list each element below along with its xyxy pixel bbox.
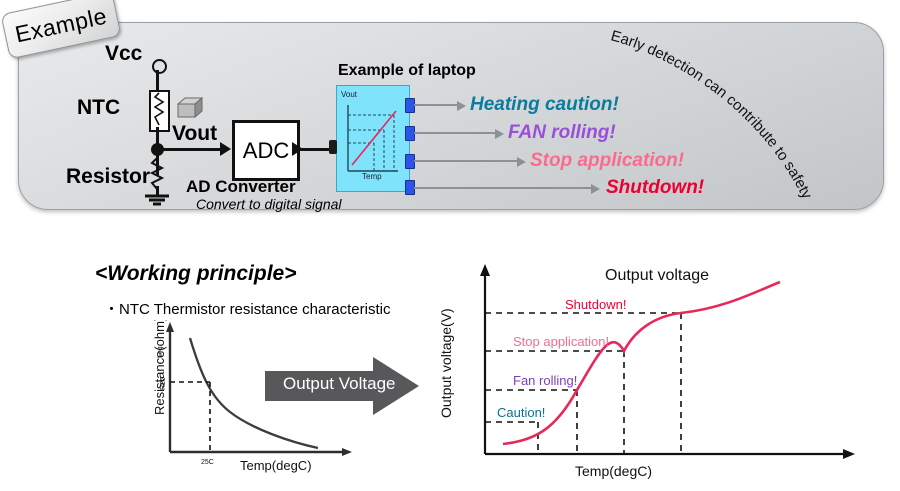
adc-block: ADC xyxy=(232,120,300,181)
callout-label-1: Heating caution! xyxy=(470,94,619,116)
vout-arrow-head-icon xyxy=(220,142,231,156)
threshold-label-fan-rolling: Fan rolling! xyxy=(513,373,577,388)
ground-symbol-icon xyxy=(143,194,171,213)
vcc-label: Vcc xyxy=(105,42,142,66)
threshold-label-caution: Caution! xyxy=(497,405,545,420)
working-principle-bullet: ・NTC Thermistor resistance characteristi… xyxy=(104,298,390,319)
ntc-label: NTC xyxy=(77,96,120,120)
ad-converter-label: AD Converter xyxy=(186,177,296,197)
callout-arrow-head-2-icon xyxy=(495,129,504,139)
out-chart-ylabel: Output voltage(V) xyxy=(438,308,454,418)
arc-note: Early detection can contribute to safety xyxy=(600,28,880,208)
res-chart-ylabel: Resistance(ohm) xyxy=(152,320,167,415)
callout-arrow-3 xyxy=(414,160,518,162)
callout-arrow-4 xyxy=(414,187,592,189)
mini-output-voltage-chart xyxy=(344,103,400,179)
vcc-terminal-icon xyxy=(152,59,167,74)
wire-vcc-to-ntc xyxy=(156,70,159,92)
transition-arrow-label: Output Voltage xyxy=(283,374,395,394)
res-chart-marker-xlabel: 25C xyxy=(201,459,214,466)
thermistor-part-cube-icon xyxy=(177,96,203,125)
callout-arrow-head-4-icon xyxy=(591,184,600,194)
vout-label: Vout xyxy=(172,122,217,146)
ntc-thermistor-symbol xyxy=(149,90,170,132)
res-chart-marker-ylabel: R25 xyxy=(160,377,167,390)
threshold-label-shutdown: Shutdown! xyxy=(565,297,626,312)
mini-chart-ylabel: Vout xyxy=(341,90,357,99)
callout-arrow-head-3-icon xyxy=(517,157,526,167)
out-chart-title: Output voltage xyxy=(605,267,709,284)
wire-vout-to-adc xyxy=(160,148,224,151)
out-chart-xlabel: Temp(degC) xyxy=(575,463,652,479)
ad-converter-sublabel: Convert to digital signal xyxy=(196,196,342,212)
callout-arrow-head-1-icon xyxy=(457,101,466,111)
output-voltage-chart: Output voltage Shutdown! Stop applicatio… xyxy=(425,258,885,488)
res-chart-xlabel: Temp(degC) xyxy=(240,458,312,473)
working-principle-title: <Working principle> xyxy=(95,262,297,286)
callout-arrow-2 xyxy=(414,132,496,134)
callout-arrow-1 xyxy=(414,104,458,106)
adc-input-arrow-head-icon xyxy=(292,142,303,156)
laptop-input-connector-icon xyxy=(329,140,337,154)
adc-label: ADC xyxy=(235,123,297,178)
res-chart-yscale-note: Log xyxy=(157,346,164,358)
threshold-label-stop-application: Stop application! xyxy=(513,334,609,349)
resistor-label: Resistor xyxy=(66,165,150,189)
arc-note-text: Early detection can contribute to safety xyxy=(609,28,816,202)
laptop-title: Example of laptop xyxy=(338,62,476,80)
